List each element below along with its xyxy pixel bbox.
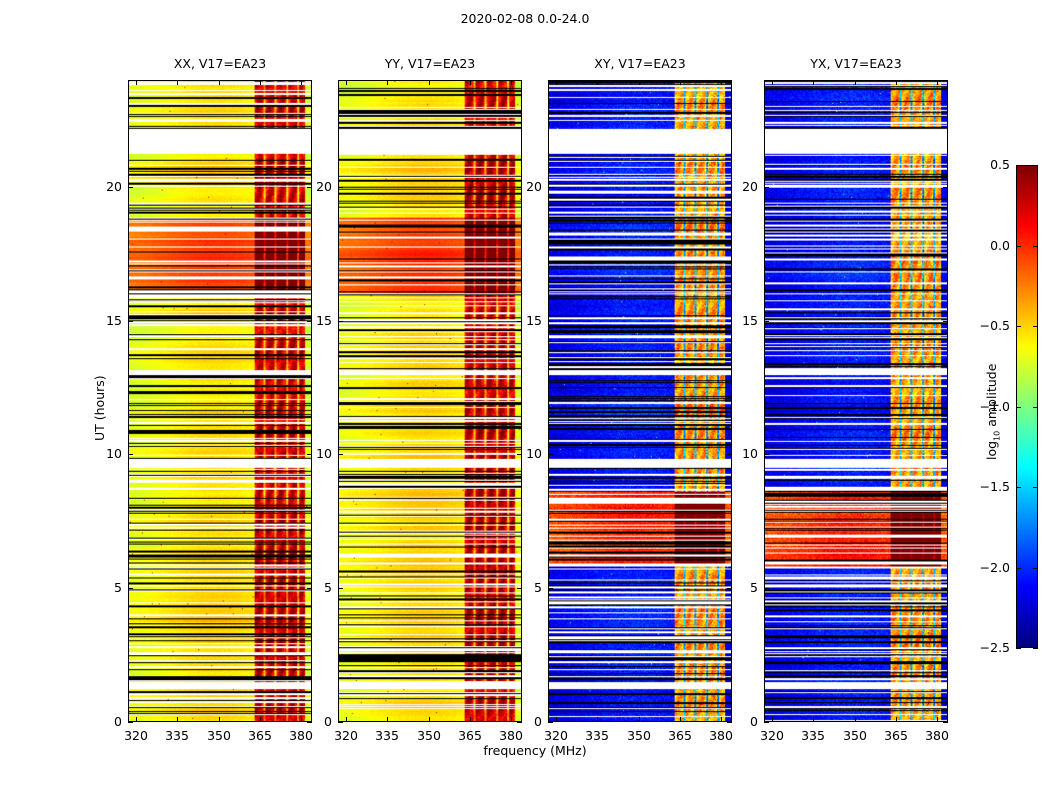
- y-tickmark: [943, 722, 948, 723]
- x-tickmark: [772, 80, 773, 85]
- x-tick-label-320: 320: [326, 728, 366, 743]
- x-tickmark: [470, 717, 471, 722]
- x-tickmark: [639, 80, 640, 85]
- colorbar-label-subscript: 10: [993, 431, 1002, 441]
- x-tickmark: [556, 717, 557, 722]
- x-tickmark: [937, 717, 938, 722]
- y-tick-label-20: 20: [724, 179, 758, 194]
- x-tickmark: [721, 717, 722, 722]
- y-tickmark: [943, 187, 948, 188]
- x-tick-label-320: 320: [752, 728, 792, 743]
- y-tickmark: [548, 454, 553, 455]
- y-tickmark: [128, 321, 133, 322]
- colorbar-tickmark: [1016, 407, 1021, 408]
- colorbar-label-suffix: amplitude: [984, 364, 999, 431]
- x-tick-label-350: 350: [835, 728, 875, 743]
- x-tickmark: [680, 80, 681, 85]
- x-tickmark: [260, 717, 261, 722]
- y-tick-label-5: 5: [724, 580, 758, 595]
- y-tick-label-15: 15: [298, 313, 332, 328]
- x-tick-label-380: 380: [701, 728, 741, 743]
- y-tickmark: [764, 454, 769, 455]
- x-tickmark: [556, 80, 557, 85]
- x-tickmark: [136, 80, 137, 85]
- y-tick-label-5: 5: [298, 580, 332, 595]
- heatmap-panel-xy: [548, 80, 732, 722]
- x-tickmark: [219, 717, 220, 722]
- colorbar-tickmark: [1033, 246, 1038, 247]
- x-tickmark: [511, 80, 512, 85]
- x-tickmark: [639, 717, 640, 722]
- y-tickmark: [548, 722, 553, 723]
- y-tickmark: [764, 321, 769, 322]
- x-tickmark: [219, 80, 220, 85]
- y-tickmark: [128, 187, 133, 188]
- x-axis-label: frequency (MHz): [338, 743, 732, 758]
- x-tickmark: [813, 80, 814, 85]
- colorbar-tickmark: [1033, 568, 1038, 569]
- x-tick-label-335: 335: [367, 728, 407, 743]
- heatmap-image-yx: [765, 81, 947, 721]
- panel-title-yx: YX, V17=EA23: [764, 56, 948, 71]
- x-tick-label-380: 380: [917, 728, 957, 743]
- x-tickmark: [346, 717, 347, 722]
- x-tick-label-365: 365: [660, 728, 700, 743]
- x-tick-label-380: 380: [491, 728, 531, 743]
- colorbar-tick-label: −0.5: [966, 318, 1010, 333]
- x-tick-label-320: 320: [116, 728, 156, 743]
- x-tick-label-365: 365: [876, 728, 916, 743]
- y-tick-label-5: 5: [88, 580, 122, 595]
- colorbar-tickmark: [1016, 246, 1021, 247]
- colorbar-tick-label: 0.0: [966, 238, 1010, 253]
- y-tickmark: [764, 588, 769, 589]
- panel-title-yy: YY, V17=EA23: [338, 56, 522, 71]
- heatmap-image-xx: [129, 81, 311, 721]
- y-tick-label-15: 15: [88, 313, 122, 328]
- x-tickmark: [813, 717, 814, 722]
- y-tick-label-10: 10: [298, 446, 332, 461]
- y-tick-label-0: 0: [298, 714, 332, 729]
- x-tickmark: [855, 80, 856, 85]
- y-tick-label-20: 20: [88, 179, 122, 194]
- x-tickmark: [597, 717, 598, 722]
- x-tick-label-335: 335: [577, 728, 617, 743]
- y-tickmark: [128, 722, 133, 723]
- x-tick-label-350: 350: [199, 728, 239, 743]
- colorbar-tickmark: [1016, 326, 1021, 327]
- colorbar-tickmark: [1033, 648, 1038, 649]
- heatmap-image-xy: [549, 81, 731, 721]
- x-tickmark: [429, 80, 430, 85]
- y-tick-label-0: 0: [508, 714, 542, 729]
- y-tickmark: [338, 321, 343, 322]
- heatmap-panel-yx: [764, 80, 948, 722]
- heatmap-image-yy: [339, 81, 521, 721]
- y-tickmark: [128, 454, 133, 455]
- y-tick-label-20: 20: [508, 179, 542, 194]
- x-tickmark: [136, 717, 137, 722]
- x-tickmark: [937, 80, 938, 85]
- colorbar-label-prefix: log: [984, 441, 999, 460]
- y-tick-label-20: 20: [298, 179, 332, 194]
- colorbar-label: log10 amplitude: [984, 364, 1002, 460]
- colorbar-tickmark: [1016, 487, 1021, 488]
- colorbar-tick-label: 0.5: [966, 157, 1010, 172]
- colorbar-tickmark: [1033, 165, 1038, 166]
- x-tick-label-380: 380: [281, 728, 321, 743]
- figure-suptitle: 2020-02-08 0.0-24.0: [0, 11, 1050, 26]
- y-tick-label-5: 5: [508, 580, 542, 595]
- y-tick-label-0: 0: [724, 714, 758, 729]
- colorbar-tickmark: [1016, 568, 1021, 569]
- colorbar-tick-label: −2.0: [966, 560, 1010, 575]
- y-tick-label-0: 0: [88, 714, 122, 729]
- figure-canvas: 2020-02-08 0.0-24.0 XX, V17=EA23 YY, V17…: [0, 0, 1050, 800]
- heatmap-panel-yy: [338, 80, 522, 722]
- y-tick-label-10: 10: [88, 446, 122, 461]
- x-tickmark: [680, 717, 681, 722]
- x-tickmark: [429, 717, 430, 722]
- y-tickmark: [338, 588, 343, 589]
- heatmap-panel-xx: [128, 80, 312, 722]
- y-tickmark: [943, 588, 948, 589]
- x-tickmark: [855, 717, 856, 722]
- x-tick-label-350: 350: [619, 728, 659, 743]
- x-tickmark: [470, 80, 471, 85]
- y-axis-label: UT (hours): [92, 375, 107, 441]
- x-tickmark: [301, 80, 302, 85]
- panel-title-xy: XY, V17=EA23: [548, 56, 732, 71]
- x-tickmark: [597, 80, 598, 85]
- y-tickmark: [548, 588, 553, 589]
- y-tick-label-15: 15: [724, 313, 758, 328]
- colorbar-tickmark: [1033, 487, 1038, 488]
- x-tickmark: [260, 80, 261, 85]
- panel-title-xx: XX, V17=EA23: [128, 56, 312, 71]
- x-tick-label-335: 335: [793, 728, 833, 743]
- x-tickmark: [387, 80, 388, 85]
- x-tickmark: [896, 717, 897, 722]
- x-tickmark: [177, 717, 178, 722]
- x-tickmark: [896, 80, 897, 85]
- y-tickmark: [548, 187, 553, 188]
- y-tickmark: [548, 321, 553, 322]
- y-tick-label-10: 10: [508, 446, 542, 461]
- colorbar-tickmark: [1033, 407, 1038, 408]
- x-tickmark: [387, 717, 388, 722]
- x-tick-label-335: 335: [157, 728, 197, 743]
- colorbar-tickmark: [1016, 165, 1021, 166]
- x-tickmark: [721, 80, 722, 85]
- x-tick-label-320: 320: [536, 728, 576, 743]
- y-tickmark: [338, 454, 343, 455]
- x-tick-label-365: 365: [240, 728, 280, 743]
- y-tickmark: [338, 722, 343, 723]
- colorbar-tick-label: −1.5: [966, 479, 1010, 494]
- y-tickmark: [764, 722, 769, 723]
- y-tickmark: [764, 187, 769, 188]
- colorbar-tickmark: [1016, 648, 1021, 649]
- y-tickmark: [338, 187, 343, 188]
- colorbar-tickmark: [1033, 326, 1038, 327]
- y-tickmark: [128, 588, 133, 589]
- x-tick-label-350: 350: [409, 728, 449, 743]
- y-tick-label-10: 10: [724, 446, 758, 461]
- y-tick-label-15: 15: [508, 313, 542, 328]
- x-tickmark: [346, 80, 347, 85]
- y-tickmark: [943, 321, 948, 322]
- x-tick-label-365: 365: [450, 728, 490, 743]
- y-tickmark: [943, 454, 948, 455]
- colorbar-tick-label: −2.5: [966, 640, 1010, 655]
- x-tickmark: [772, 717, 773, 722]
- x-tickmark: [177, 80, 178, 85]
